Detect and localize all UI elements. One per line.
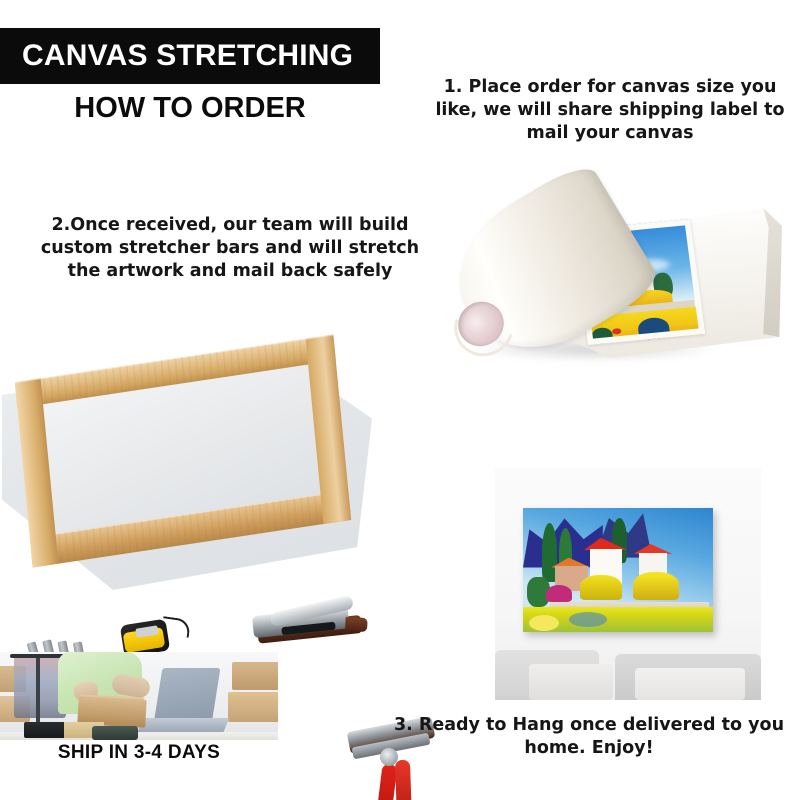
- title-banner: CANVAS STRETCHING: [0, 28, 380, 84]
- sofa-left-cushion: [529, 664, 613, 700]
- sofa-right-cushion: [635, 668, 745, 700]
- subtitle-row: HOW TO ORDER: [0, 88, 380, 128]
- staple-gun-nose: [345, 617, 368, 632]
- smartphone: [92, 726, 138, 740]
- wallart-yellow-bush-1: [580, 575, 622, 600]
- shipping-photo: [0, 652, 278, 740]
- step-2-text: 2.Once received, our team will build cus…: [36, 214, 424, 283]
- wallart-yellow-bush-2: [633, 572, 679, 599]
- wallart-yellow-flowers: [529, 615, 559, 631]
- wallart-magenta-flower: [546, 585, 573, 602]
- wallart-blue-flowers: [569, 612, 607, 627]
- page-subtitle: HOW TO ORDER: [74, 92, 305, 125]
- laptop-screen: [154, 668, 221, 724]
- page-title: CANVAS STRETCHING: [0, 39, 353, 73]
- hanging-stretched-canvas: [523, 508, 713, 632]
- wall-art-photo: [495, 468, 761, 700]
- ship-time-label: SHIP IN 3-4 DAYS: [0, 742, 278, 764]
- shipping-box-right-bottom: [228, 692, 278, 722]
- shipping-box-right-top: [232, 662, 278, 690]
- infographic-canvas: CANVAS STRETCHING HOW TO ORDER 1. Place …: [0, 0, 800, 800]
- step-1-text: 1. Place order for canvas size you like,…: [434, 76, 786, 145]
- step-3-text: 3. Ready to Hang once delivered to you h…: [386, 714, 792, 760]
- tape-measure-blade: [161, 616, 191, 638]
- rolled-canvas-photo: [452, 186, 792, 408]
- stretcher-frame-photo: [0, 300, 440, 630]
- clothes-rack-pole: [36, 658, 40, 728]
- pliers-handle-left: [373, 763, 397, 800]
- pliers-handle-right: [395, 760, 412, 800]
- tape-measure-icon: [118, 616, 172, 656]
